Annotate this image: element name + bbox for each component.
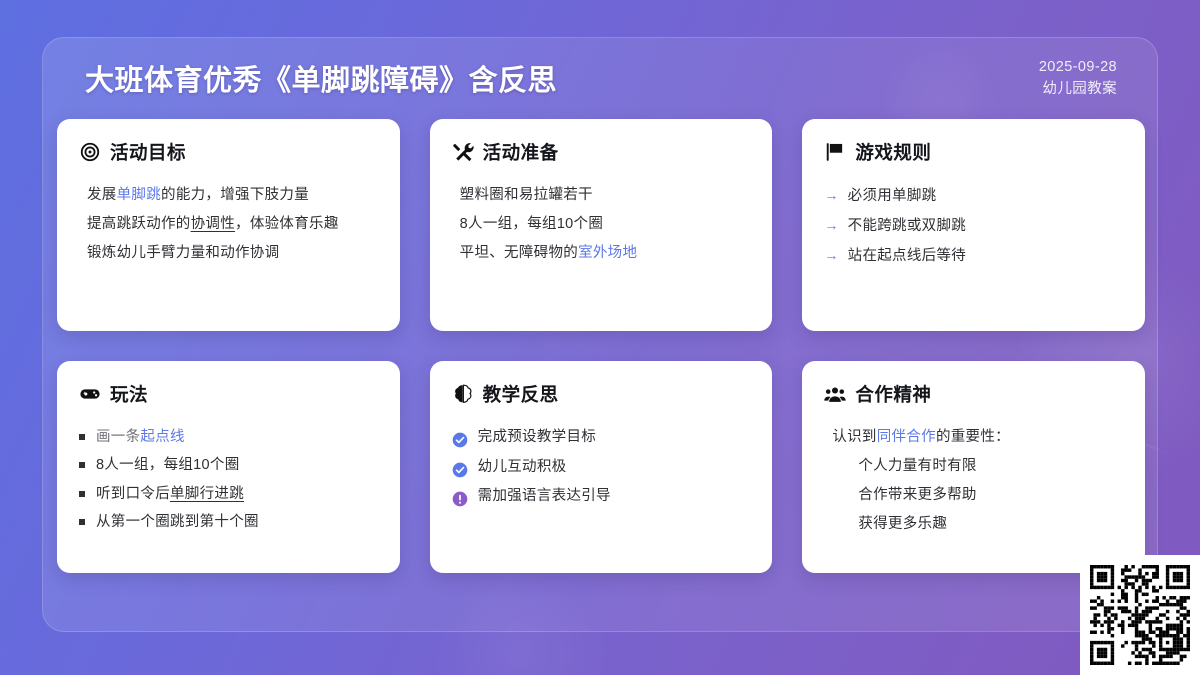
highlight-text: 起点线 — [140, 429, 184, 445]
text: ，体验体育乐趣 — [235, 216, 339, 232]
highlight-text: 单脚跳 — [117, 187, 161, 203]
list-item: 幼儿互动积极 — [452, 453, 751, 483]
text: 认识到 — [832, 429, 876, 445]
card-grid: 活动目标发展单脚跳的能力，增强下肢力量提高跳跃动作的协调性，体验体育乐趣锻炼幼儿… — [57, 119, 1145, 573]
qr-code[interactable] — [1080, 555, 1200, 675]
card-header: 合作精神 — [824, 381, 1123, 407]
card-title: 活动准备 — [483, 139, 559, 165]
text: 锻炼幼儿手臂力量和动作协调 — [87, 245, 279, 261]
header-meta: 2025-09-28 幼儿园教案 — [1039, 56, 1117, 101]
card-activity-prep[interactable]: 活动准备塑料圈和易拉罐若干8人一组，每组10个圈平坦、无障碍物的室外场地 — [430, 119, 773, 331]
card-header: 活动目标 — [79, 139, 378, 165]
page-title: 大班体育优秀《单脚跳障碍》含反思 — [85, 57, 557, 99]
card-teaching-reflection[interactable]: 教学反思完成预设教学目标幼儿互动积极需加强语言表达引导 — [430, 361, 773, 573]
arrow-bullet-icon: → — [824, 211, 838, 239]
text: 听到口令后 — [96, 486, 170, 502]
card-header: 活动准备 — [452, 139, 751, 165]
rules-list: →必须用单脚跳→不能跨跳或双脚跳→站在起点线后等待 — [824, 181, 1123, 271]
text: 8人一组，每组10个圈 — [460, 216, 604, 232]
card-title: 教学反思 — [483, 381, 559, 407]
card-title: 玩法 — [110, 381, 148, 407]
card-gameplay[interactable]: 玩法画一条起点线8人一组，每组10个圈听到口令后单脚行进跳从第一个圈跳到第十个圈 — [57, 361, 400, 573]
highlight-text: 室外场地 — [578, 245, 637, 261]
reflection-list: 完成预设教学目标幼儿互动积极需加强语言表达引导 — [452, 423, 751, 512]
list-item: 需加强语言表达引导 — [452, 482, 751, 512]
text: 提高跳跃动作的 — [87, 216, 191, 232]
arrow-bullet-icon: → — [824, 181, 838, 209]
text-line: 发展单脚跳的能力，增强下肢力量 — [87, 181, 378, 210]
text-line: 塑料圈和易拉罐若干 — [460, 181, 751, 210]
list-item: 从第一个圈跳到第十个圈 — [79, 508, 378, 536]
gameplay-list: 画一条起点线8人一组，每组10个圈听到口令后单脚行进跳从第一个圈跳到第十个圈 — [79, 423, 378, 536]
card-header: 游戏规则 — [824, 139, 1123, 165]
exclamation-circle-icon — [452, 489, 468, 505]
card-cooperation-spirit[interactable]: 合作精神认识到同伴合作的重要性：个人力量有时有限合作带来更多帮助获得更多乐趣 — [802, 361, 1145, 573]
square-bullet-icon — [79, 434, 85, 440]
highlight-text: 同伴合作 — [877, 429, 936, 445]
square-bullet-icon — [79, 491, 85, 497]
text: 完成预设教学目标 — [478, 429, 596, 445]
check-circle-icon — [452, 430, 468, 446]
square-bullet-icon — [79, 519, 85, 525]
arrow-bullet-icon: → — [824, 241, 838, 269]
list-item-label: 听到口令后单脚行进跳 — [96, 480, 244, 508]
list-item: →必须用单脚跳 — [824, 181, 1123, 211]
card-title: 活动目标 — [110, 139, 186, 165]
card-activity-goal[interactable]: 活动目标发展单脚跳的能力，增强下肢力量提高跳跃动作的协调性，体验体育乐趣锻炼幼儿… — [57, 119, 400, 331]
text: 需加强语言表达引导 — [478, 488, 611, 504]
target-icon — [79, 141, 101, 163]
text: 合作带来更多帮助 — [858, 487, 976, 503]
slide-panel: 大班体育优秀《单脚跳障碍》含反思 2025-09-28 幼儿园教案 活动目标发展… — [42, 37, 1158, 632]
text: 个人力量有时有限 — [858, 458, 976, 474]
text-line: 平坦、无障碍物的室外场地 — [460, 239, 751, 268]
people-icon — [824, 383, 846, 405]
text-line: 认识到同伴合作的重要性： — [832, 423, 1123, 452]
list-item: 画一条起点线 — [79, 423, 378, 451]
text: 从第一个圈跳到第十个圈 — [96, 514, 259, 530]
card-header: 教学反思 — [452, 381, 751, 407]
text: 的能力，增强下肢力量 — [161, 187, 309, 203]
text: 获得更多乐趣 — [858, 516, 947, 532]
text: 平坦、无障碍物的 — [460, 245, 578, 261]
qr-code-image — [1090, 565, 1190, 665]
square-bullet-icon — [79, 462, 85, 468]
text-line: 合作带来更多帮助 — [832, 481, 1123, 510]
text-line: 个人力量有时有限 — [832, 452, 1123, 481]
text: 站在起点线后等待 — [848, 248, 966, 264]
text-line: 获得更多乐趣 — [832, 510, 1123, 539]
header-date: 2025-09-28 — [1039, 56, 1117, 78]
text: 8人一组，每组10个圈 — [96, 457, 240, 473]
brain-icon — [452, 383, 474, 405]
card-title: 合作精神 — [855, 381, 931, 407]
text-line: 锻炼幼儿手臂力量和动作协调 — [87, 239, 378, 268]
slide-header: 大班体育优秀《单脚跳障碍》含反思 2025-09-28 幼儿园教案 — [43, 38, 1157, 118]
text: 塑料圈和易拉罐若干 — [460, 187, 593, 203]
header-subtitle: 幼儿园教案 — [1039, 78, 1117, 100]
list-item-label: 从第一个圈跳到第十个圈 — [96, 508, 259, 536]
text: 发展 — [87, 187, 117, 203]
text: 必须用单脚跳 — [848, 188, 937, 204]
list-item: →不能跨跳或双脚跳 — [824, 211, 1123, 241]
card-game-rules[interactable]: 游戏规则→必须用单脚跳→不能跨跳或双脚跳→站在起点线后等待 — [802, 119, 1145, 331]
list-item-label: 必须用单脚跳 — [848, 182, 937, 211]
tools-icon — [452, 141, 474, 163]
list-item: →站在起点线后等待 — [824, 241, 1123, 271]
list-item-label: 站在起点线后等待 — [848, 242, 966, 271]
text-line: 提高跳跃动作的协调性，体验体育乐趣 — [87, 210, 378, 239]
text: 不能跨跳或双脚跳 — [848, 218, 966, 234]
muted-text: 画一条 — [96, 429, 140, 445]
list-item-label: 幼儿互动积极 — [478, 453, 567, 483]
text: 幼儿互动积极 — [478, 459, 567, 475]
card-title: 游戏规则 — [855, 139, 931, 165]
list-item-label: 8人一组，每组10个圈 — [96, 451, 240, 479]
list-item-label: 画一条起点线 — [96, 423, 185, 451]
card-text-lines: 认识到同伴合作的重要性：个人力量有时有限合作带来更多帮助获得更多乐趣 — [824, 423, 1123, 539]
underlined-text: 协调性 — [191, 216, 235, 232]
card-header: 玩法 — [79, 381, 378, 407]
list-item: 8人一组，每组10个圈 — [79, 451, 378, 479]
flag-icon — [824, 141, 846, 163]
list-item-label: 需加强语言表达引导 — [478, 482, 611, 512]
check-circle-icon — [452, 460, 468, 476]
text-line: 8人一组，每组10个圈 — [460, 210, 751, 239]
text: 的重要性： — [936, 429, 1010, 445]
card-text-lines: 塑料圈和易拉罐若干8人一组，每组10个圈平坦、无障碍物的室外场地 — [452, 181, 751, 268]
gamepad-icon — [79, 383, 101, 405]
list-item: 听到口令后单脚行进跳 — [79, 480, 378, 508]
list-item-label: 不能跨跳或双脚跳 — [848, 212, 966, 241]
list-item: 完成预设教学目标 — [452, 423, 751, 453]
card-text-lines: 发展单脚跳的能力，增强下肢力量提高跳跃动作的协调性，体验体育乐趣锻炼幼儿手臂力量… — [79, 181, 378, 268]
list-item-label: 完成预设教学目标 — [478, 423, 596, 453]
underlined-text: 单脚行进跳 — [170, 486, 244, 502]
